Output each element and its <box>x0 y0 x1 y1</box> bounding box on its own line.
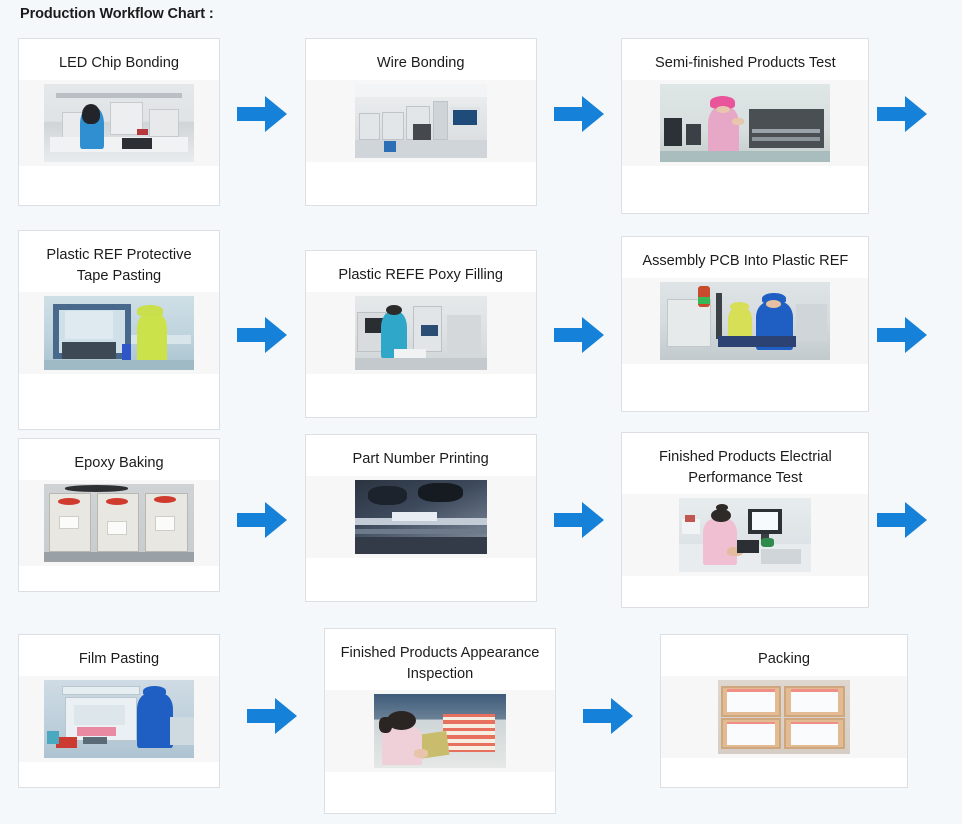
step-image-strip <box>306 292 536 374</box>
photo-bench <box>50 137 188 153</box>
right-arrow-icon <box>237 315 287 355</box>
arrow-cell <box>220 230 305 355</box>
arrow-cell <box>537 432 622 540</box>
photo-product-layer <box>443 746 496 750</box>
right-arrow-icon <box>583 696 633 736</box>
photo-packed-product <box>727 692 775 713</box>
step-label: LED Chip Bonding <box>19 39 219 80</box>
photo-worker-cap <box>143 686 166 696</box>
step-image-strip <box>622 80 868 166</box>
photo-worker-face <box>716 106 730 113</box>
photo-robot-arm <box>413 124 431 140</box>
arrow-cell <box>869 432 962 540</box>
step-image-strip <box>661 676 907 758</box>
photo-worker-head <box>386 305 402 315</box>
photo-machine <box>796 304 827 341</box>
right-arrow-icon <box>877 94 927 134</box>
right-arrow-icon <box>237 94 287 134</box>
photo-duct <box>65 485 128 491</box>
photo-workbench <box>718 336 796 347</box>
photo-machine <box>149 109 179 137</box>
photo-worker-hand <box>414 749 429 758</box>
photo-test-fixture <box>737 540 758 553</box>
photo-bottle <box>122 344 131 362</box>
photo-machine <box>433 101 449 139</box>
right-arrow-icon <box>237 500 287 540</box>
photo-product-layer <box>443 739 496 743</box>
photo-material <box>77 727 116 736</box>
step-image-strip <box>325 690 555 772</box>
photo-shelf <box>56 93 182 98</box>
semi-finished-products-test-photo <box>660 84 830 162</box>
photo-shelf-item <box>685 515 696 522</box>
workflow-row: Film Pasting <box>0 628 962 820</box>
photo-oven-dial <box>106 498 129 505</box>
photo-worker-hand <box>732 118 744 125</box>
photo-monitor-screen <box>752 512 778 530</box>
step-label: Epoxy Baking <box>19 439 219 480</box>
packing-photo <box>718 680 850 754</box>
photo-bench <box>170 717 194 745</box>
wire-bonding-photo <box>355 84 487 158</box>
photo-oven-tag <box>155 516 175 530</box>
photo-part <box>392 512 437 521</box>
workflow-step-finished-products-electrial-performance-test[interactable]: Finished Products Electrial Performance … <box>621 432 869 608</box>
workflow-step-plastic-refe-poxy-filling[interactable]: Plastic REFE Poxy Filling <box>305 250 537 418</box>
workflow-row: LED Chip Bonding <box>0 38 962 230</box>
right-arrow-icon <box>877 315 927 355</box>
workflow-step-wire-bonding[interactable]: Wire Bonding <box>305 38 537 206</box>
photo-floor <box>355 358 487 370</box>
photo-equipment-detail <box>137 129 148 135</box>
step-label: Packing <box>661 635 907 676</box>
photo-pole <box>716 293 721 340</box>
photo-machine-base <box>62 342 116 358</box>
photo-oven-tag <box>107 521 127 535</box>
photo-product-layer <box>443 724 496 728</box>
finished-products-appearance-inspection-photo <box>374 694 506 768</box>
photo-test-board <box>752 129 820 133</box>
workflow-row: Epoxy Baking <box>0 432 962 628</box>
right-arrow-icon <box>877 500 927 540</box>
arrow-cell <box>869 38 962 134</box>
photo-worker-helmet <box>137 305 163 315</box>
photo-floor <box>355 140 487 158</box>
photo-worker <box>703 519 737 565</box>
photo-control-screen <box>421 325 438 335</box>
arrow-cell <box>537 38 622 134</box>
right-arrow-icon <box>247 696 297 736</box>
part-number-printing-photo <box>355 480 487 554</box>
photo-tray <box>394 349 426 358</box>
right-arrow-icon <box>554 500 604 540</box>
step-label: Finished Products Electrial Performance … <box>622 433 868 494</box>
step-label: Assembly PCB Into Plastic REF <box>622 237 868 278</box>
photo-machine <box>359 113 380 140</box>
arrow-cell <box>556 628 660 736</box>
workflow-step-finished-products-appearance-inspection[interactable]: Finished Products Appearance Inspection <box>324 628 556 814</box>
photo-shadow <box>355 537 487 553</box>
assembly-pcb-into-plastic-ref-photo <box>660 282 830 360</box>
photo-worker <box>137 314 167 363</box>
arrow-cell <box>220 432 305 540</box>
photo-worker <box>137 694 173 749</box>
photo-floor <box>44 552 194 561</box>
photo-oven-dial <box>58 498 81 505</box>
step-image-strip <box>19 676 219 762</box>
step-label: Plastic REF Protective Tape Pasting <box>19 231 219 292</box>
right-arrow-icon <box>554 315 604 355</box>
step-label: Plastic REFE Poxy Filling <box>306 251 536 292</box>
right-arrow-icon <box>554 94 604 134</box>
step-image-strip <box>19 480 219 566</box>
epoxy-baking-photo <box>44 484 194 562</box>
arrow-cell <box>869 230 962 355</box>
arrow-cell <box>220 38 305 134</box>
photo-machine <box>447 315 481 353</box>
photo-worker-hair <box>82 104 100 124</box>
step-label: Finished Products Appearance Inspection <box>325 629 555 690</box>
photo-equipment <box>122 138 152 149</box>
photo-packed-product <box>727 724 775 745</box>
arrow-cell <box>220 628 324 736</box>
plastic-refe-poxy-filling-photo <box>355 296 487 370</box>
film-pasting-photo <box>44 680 194 758</box>
step-image-strip <box>306 476 536 558</box>
photo-floor <box>660 151 830 162</box>
workflow-step-film-pasting[interactable]: Film Pasting <box>18 634 220 788</box>
photo-test-board <box>752 137 820 141</box>
photo-oven-tag <box>59 516 79 528</box>
photo-machine <box>382 112 403 140</box>
workflow-step-assembly-pcb-into-plastic-ref[interactable]: Assembly PCB Into Plastic REF <box>621 236 869 412</box>
step-image-strip <box>19 292 219 374</box>
finished-products-electrial-performance-test-photo <box>679 498 811 572</box>
photo-ceiling <box>355 84 487 97</box>
photo-green-item <box>761 538 774 547</box>
photo-product-layer <box>443 731 496 735</box>
workflow-step-part-number-printing[interactable]: Part Number Printing <box>305 434 537 602</box>
page-title: Production Workflow Chart : <box>20 6 214 22</box>
photo-machine-interior <box>74 705 125 725</box>
photo-equipment <box>664 118 683 146</box>
step-label: Wire Bonding <box>306 39 536 80</box>
photo-worker <box>708 107 739 154</box>
photo-machine-label <box>83 737 107 744</box>
photo-bin-blue <box>47 731 59 743</box>
arrow-cell <box>537 230 622 355</box>
photo-worker-yellow-cap <box>730 302 749 311</box>
photo-bin <box>384 141 396 151</box>
photo-worker-hair <box>379 717 392 733</box>
photo-monitor <box>450 107 480 128</box>
photo-bin-red <box>56 737 77 748</box>
photo-machine-window <box>65 311 113 339</box>
step-image-strip <box>19 80 219 166</box>
photo-machine-blur <box>418 483 463 502</box>
step-label: Semi-finished Products Test <box>622 39 868 80</box>
step-label: Film Pasting <box>19 635 219 676</box>
photo-packed-product <box>791 724 839 745</box>
workflow-row: Plastic REF Protective Tape Pasting <box>0 230 962 432</box>
photo-rail <box>355 529 487 534</box>
photo-floor <box>44 360 194 370</box>
step-label: Part Number Printing <box>306 435 536 476</box>
workflow-step-semi-finished-products-test[interactable]: Semi-finished Products Test <box>621 38 869 214</box>
step-image-strip <box>306 80 536 162</box>
plastic-ref-protective-tape-pasting-photo <box>44 296 194 370</box>
step-image-strip <box>622 278 868 364</box>
workflow-step-plastic-ref-protective-tape-pasting[interactable]: Plastic REF Protective Tape Pasting <box>18 230 220 430</box>
workflow-step-led-chip-bonding[interactable]: LED Chip Bonding <box>18 38 220 206</box>
led-chip-bonding-photo <box>44 84 194 162</box>
workflow-diagram: LED Chip Bonding <box>0 38 962 820</box>
photo-equipment <box>686 124 701 144</box>
workflow-step-packing[interactable]: Packing <box>660 634 908 788</box>
photo-product-layer <box>443 717 496 721</box>
photo-machine-blur <box>368 486 408 505</box>
photo-keyboard <box>761 549 801 564</box>
photo-machine-hood <box>62 686 140 695</box>
workflow-step-epoxy-baking[interactable]: Epoxy Baking <box>18 438 220 592</box>
photo-signal-lamp-green <box>698 297 710 304</box>
photo-packed-product <box>791 692 839 713</box>
step-image-strip <box>622 494 868 576</box>
